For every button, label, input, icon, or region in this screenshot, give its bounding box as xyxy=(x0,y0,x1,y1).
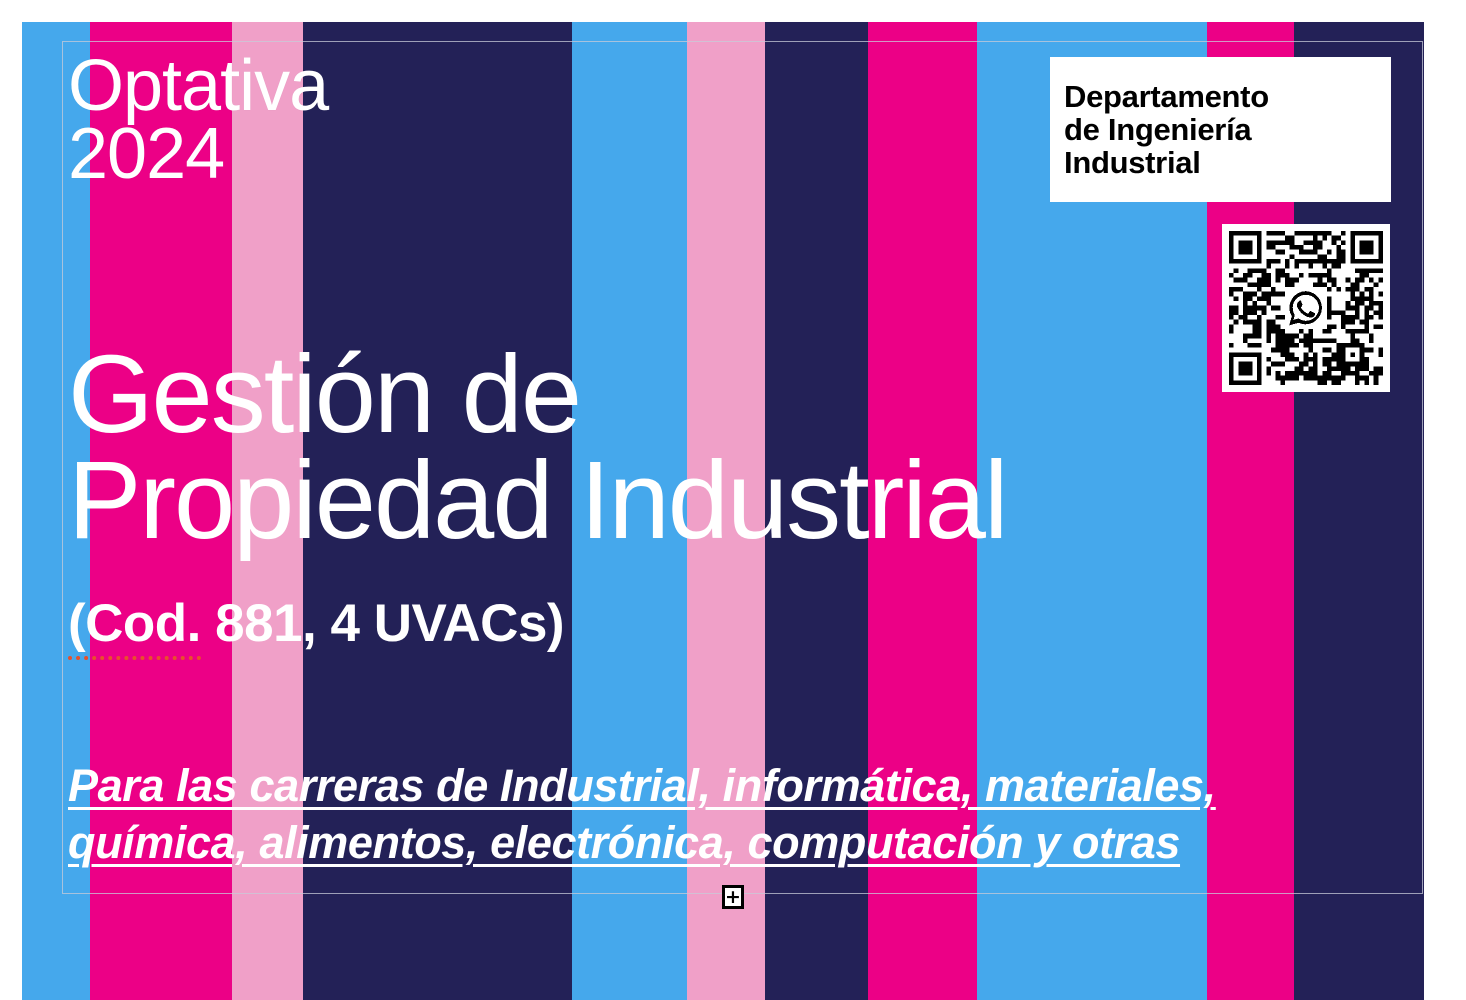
slide-kicker-text[interactable]: Optativa 2024 xyxy=(68,52,328,189)
whatsapp-icon xyxy=(1285,287,1326,328)
slide-course-title[interactable]: Gestión de Propiedad Industrial xyxy=(68,342,1006,553)
audience-text-underlined: Para las carreras de Industrial, informá… xyxy=(68,760,1216,868)
department-logo-text: Departamento de Ingeniería Industrial xyxy=(1064,80,1269,179)
course-code-misspelled: (Cod. xyxy=(68,594,201,660)
slide-canvas: Optativa 2024 Gestión de Propiedad Indus… xyxy=(0,0,1466,1000)
textbox-resize-handle[interactable]: + xyxy=(722,885,744,909)
slide-audience-text[interactable]: Para las carreras de Industrial, informá… xyxy=(68,757,1218,871)
whatsapp-qr-code[interactable] xyxy=(1222,224,1390,392)
department-logo-box[interactable]: Departamento de Ingeniería Industrial xyxy=(1050,57,1391,202)
slide-course-code[interactable]: (Cod. 881, 4 UVACs) xyxy=(68,597,564,650)
plus-icon: + xyxy=(725,888,741,907)
qr-code-graphic xyxy=(1229,231,1383,385)
course-code-rest: 881, 4 UVACs) xyxy=(201,594,564,653)
